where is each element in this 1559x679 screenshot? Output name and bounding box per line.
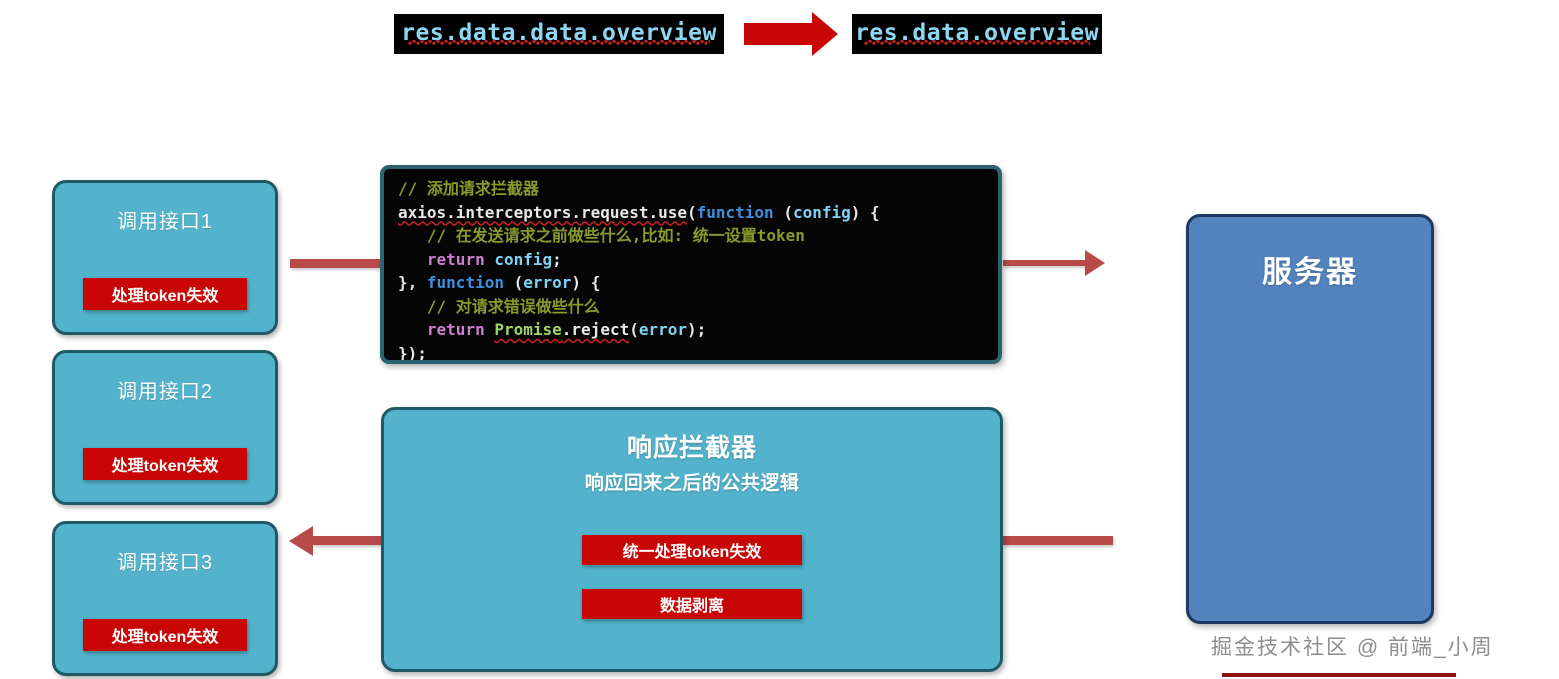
watermark-text: 掘金技术社区 @ 前端_小周 <box>1211 631 1494 661</box>
code-chip-after: res.data.overview <box>852 14 1102 54</box>
response-interceptor-box[interactable]: 响应拦截器 响应回来之后的公共逻辑 统一处理token失效 数据剥离 <box>381 407 1003 672</box>
bottom-rule-divider <box>1222 673 1456 677</box>
server-line-to-response-interceptor <box>1003 536 1113 545</box>
request-line-to-interceptor <box>290 259 386 268</box>
code-block-content: // 添加请求拦截器 axios.interceptors.request.us… <box>398 177 998 364</box>
response-arrow-to-caller-head <box>289 526 313 556</box>
request-arrow-to-server-head <box>1085 250 1105 276</box>
api-call-box-2-token-button[interactable]: 处理token失效 <box>83 448 247 480</box>
spellcheck-squiggle-icon <box>864 40 1090 45</box>
unified-token-handling-button[interactable]: 统一处理token失效 <box>582 535 802 565</box>
response-interceptor-title: 响应拦截器 <box>627 428 757 464</box>
api-call-box-1-token-button[interactable]: 处理token失效 <box>83 278 247 310</box>
api-call-box-3[interactable]: 调用接口3 处理token失效 <box>52 521 278 676</box>
request-arrow-to-server-shaft <box>1003 260 1091 266</box>
request-interceptor-code-block: // 添加请求拦截器 axios.interceptors.request.us… <box>380 165 1002 364</box>
data-stripping-button[interactable]: 数据剥离 <box>582 589 802 619</box>
server-box[interactable]: 服务器 <box>1186 214 1434 624</box>
server-title: 服务器 <box>1262 247 1358 621</box>
spellcheck-squiggle-icon <box>408 40 710 45</box>
code-chip-before: res.data.data.overview <box>394 14 724 54</box>
api-call-box-1-title: 调用接口1 <box>117 205 213 234</box>
api-call-box-2-title: 调用接口2 <box>117 375 213 404</box>
response-interceptor-subtitle: 响应回来之后的公共逻辑 <box>585 468 800 495</box>
api-call-box-2[interactable]: 调用接口2 处理token失效 <box>52 350 278 505</box>
api-call-box-3-token-button[interactable]: 处理token失效 <box>83 619 247 651</box>
diagram-canvas: res.data.data.overview res.data.overview… <box>0 0 1559 679</box>
response-arrow-to-caller-shaft <box>312 536 384 545</box>
banner-arrow-icon <box>744 12 838 56</box>
api-call-box-3-title: 调用接口3 <box>117 546 213 575</box>
api-call-box-1[interactable]: 调用接口1 处理token失效 <box>52 180 278 335</box>
